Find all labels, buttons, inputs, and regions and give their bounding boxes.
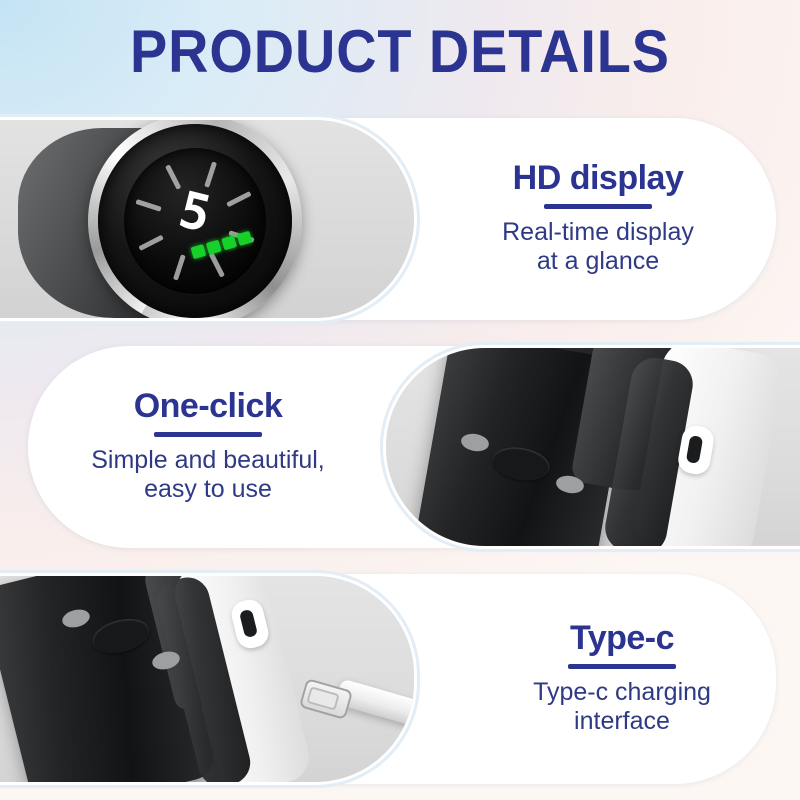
round-gauge-device-photo: 5 <box>0 120 414 318</box>
heading-underline <box>568 664 676 669</box>
panel-one-click: One-click Simple and beautiful, easy to … <box>0 346 800 548</box>
chrome-bezel: 5 <box>88 120 302 318</box>
screen-digit: 5 <box>174 184 215 240</box>
vane-icon <box>226 191 251 207</box>
panel-heading: HD display <box>513 161 684 197</box>
battery-segment <box>221 235 237 250</box>
panel-body-line-1: Simple and beautiful, <box>91 446 324 476</box>
clip-device-button-photo <box>386 348 800 546</box>
vane-icon <box>204 161 217 187</box>
panel-body-line-1: Real-time display <box>502 218 694 248</box>
battery-segment <box>206 239 222 254</box>
usb-c-cable-connect-photo <box>0 576 414 782</box>
panel-text-block: Type-c Type-c charging interface <box>444 574 800 784</box>
panel-type-c: Type-c Type-c charging interface <box>0 574 800 784</box>
heading-underline <box>544 204 652 209</box>
vane-icon <box>173 254 186 280</box>
panel-body-line-2: easy to use <box>144 475 272 505</box>
panel-text-block: One-click Simple and beautiful, easy to … <box>30 346 386 548</box>
oled-screen: 5 <box>124 148 266 294</box>
panel-body-line-1: Type-c charging <box>533 678 711 708</box>
battery-segment <box>236 230 252 245</box>
infographic-stage: PRODUCT DETAILS 5 <box>0 0 800 800</box>
vane-icon <box>135 199 161 212</box>
inner-bezel: 5 <box>98 124 292 318</box>
vane-icon <box>138 235 163 251</box>
panel-hd-display: 5 HD display Real-time display at a glan… <box>0 118 800 320</box>
panel-heading: Type-c <box>570 621 674 657</box>
panel-heading: One-click <box>134 389 283 425</box>
page-title: PRODUCT DETAILS <box>28 22 772 82</box>
heading-underline <box>154 432 262 437</box>
vane-icon <box>209 252 225 277</box>
panel-body-line-2: at a glance <box>537 247 659 277</box>
vane-icon <box>165 164 181 189</box>
panel-body-line-2: interface <box>574 707 670 737</box>
battery-segment <box>190 244 206 259</box>
panel-text-block: HD display Real-time display at a glance <box>420 118 776 320</box>
